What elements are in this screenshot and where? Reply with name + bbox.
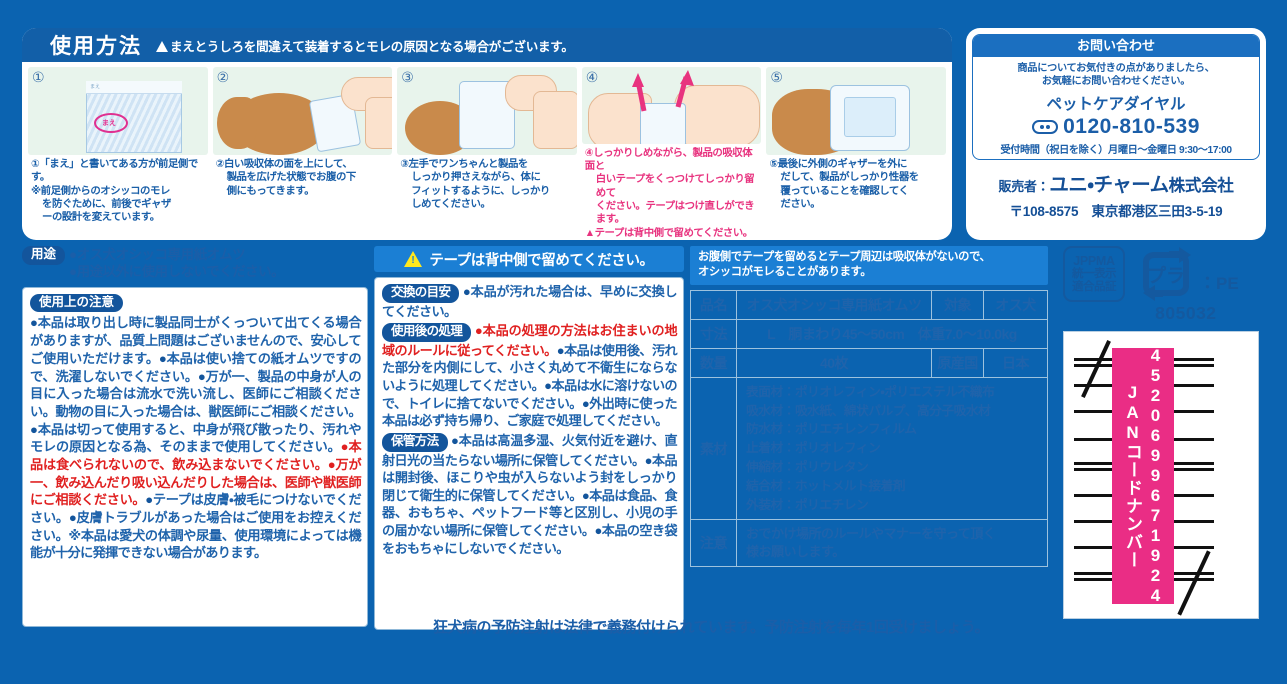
- spec-label-name: 品名: [691, 290, 737, 319]
- table-row: 数量 40枚 原産国 日本: [691, 348, 1048, 377]
- usage-step-5: ⑤ ⑤最後に外側のギャザーを外に だして、製品がしっかり性器を 覆っていることを…: [766, 67, 946, 240]
- material-line: 防水材：ポリエチレンフィルム: [746, 420, 1041, 439]
- usage-instructions-card: 使用方法 まえとうしろを間違えて装着するとモレの原因となる場合がございます。 ①…: [22, 28, 952, 240]
- address-row: 〒108-8575 東京都港区三田3-5-19: [977, 157, 1255, 161]
- caution-label: 使用上の注意: [30, 294, 123, 313]
- marks-column: JPPMA 統一表示 適合品証 プラ ：PE 805032: [1055, 246, 1267, 638]
- change-guide-label: 交換の目安: [382, 284, 459, 303]
- contact-body: 商品についてお気付きの点がありましたら、 お気軽にお問い合わせください。 ペット…: [973, 57, 1259, 160]
- table-row: 品名 オス犬オシッコ専用紙オムツ 対象 オス犬: [691, 290, 1048, 319]
- certification-marks: JPPMA 統一表示 適合品証 プラ ：PE 805032: [1055, 246, 1267, 324]
- mail-icon: [1021, 160, 1035, 161]
- freedial-icon: [1032, 120, 1058, 134]
- step-5-text: ⑤最後に外側のギャザーを外に だして、製品がしっかり性器を 覆っていることを確認…: [766, 155, 946, 211]
- usage-step-4: ④ ④しっかりしめながら、製品の吸収体面と 白いテープをくっつけてしっかり留めて…: [582, 67, 762, 240]
- disposal-label: 使用後の処理: [382, 323, 471, 342]
- material-line: 結合材：ホットメルト接着剤: [746, 477, 1041, 496]
- spec-column: お腹側でテープを留めるとテープ周辺は吸収体がないので、 オシッコがモレることがあ…: [690, 246, 1048, 567]
- contact-note-line2: お気軽にお問い合わせください。: [977, 75, 1255, 88]
- recycle-arrows-icon: プラ: [1133, 246, 1199, 302]
- direction-arrows-icon: [582, 67, 762, 144]
- plastic-type-label: ：PE: [1199, 269, 1239, 294]
- step-2-illustration: ②: [213, 67, 393, 155]
- step-2-text: ②白い吸収体の面を上にして、 製品を広げた状態でお腹の下 側にもってきます。: [213, 155, 393, 198]
- spec-value-note: おでかけ場所のルールやマナーを守って頂く 様お願いします。: [737, 520, 1048, 567]
- purpose-text: ●オス犬オシッコ専用紙オムツ ●用途以外に使用しないでください。: [69, 246, 284, 281]
- plastic-symbol-text: プラ: [1147, 264, 1185, 287]
- step-2-number: ②: [217, 69, 230, 86]
- phone-number[interactable]: 0120-810-539: [1063, 115, 1200, 139]
- contact-box: お問い合わせ 商品についてお気付きの点がありましたら、 お気軽にお問い合わせくだ…: [972, 34, 1260, 160]
- diaper-absorbent-area: [844, 97, 896, 137]
- spec-value-name: オス犬オシッコ専用紙オムツ: [737, 290, 932, 319]
- product-spec-table: 品名 オス犬オシッコ専用紙オムツ 対象 オス犬 寸法 L 胴まわり45～50cm…: [690, 290, 1048, 568]
- diaper-print-label: まえ: [90, 83, 100, 90]
- step-1-text: ①「まえ」と書いてある方が前足側です。 ※前足側からのオシッコのモレ を防ぐため…: [28, 155, 208, 225]
- warning-triangle-icon: [404, 251, 422, 267]
- material-line: 止着材：ポリオレフィン: [746, 439, 1041, 458]
- tape-warning-banner: テープは背中側で留めてください。: [374, 246, 684, 272]
- spec-value-qty: 40枚: [737, 348, 932, 377]
- spec-label-qty: 数量: [691, 348, 737, 377]
- left-info-column: 用途 ●オス犬オシッコ専用紙オムツ ●用途以外に使用しないでください。 使用上の…: [22, 246, 368, 638]
- disposal-section: 使用後の処理 ●本品の処理の方法はお住まいの地域のルールに従ってください。●本品…: [382, 322, 677, 430]
- jppma-mark: JPPMA 統一表示 適合品証: [1063, 246, 1125, 302]
- material-line: 外装材：ポリエチレン: [746, 496, 1041, 515]
- step-4-illustration: ④: [582, 67, 762, 144]
- forearm-shape: [365, 97, 393, 149]
- middle-info-column: テープは背中側で留めてください。 交換の目安 ●本品が汚れた場合は、早めに交換し…: [374, 246, 684, 638]
- jan-label-text: JANコードナンバー: [1120, 383, 1143, 569]
- step-4-text: ④しっかりしめながら、製品の吸収体面と 白いテープをくっつけてしっかり留めて く…: [582, 144, 762, 240]
- step-5-number: ⑤: [770, 69, 783, 86]
- plastic-code: 805032: [1155, 303, 1216, 324]
- usage-step-3: ③ ③左手でワンちゃんと製品を しっかり押さえながら、体に フィットするように、…: [397, 67, 577, 240]
- package-back-panel: 使用方法 まえとうしろを間違えて装着するとモレの原因となる場合がございます。 ①…: [0, 0, 1287, 684]
- step-1-illustration: ① まえ まえ: [28, 67, 208, 155]
- barcode-area: JANコードナンバー 4520699671924: [1063, 331, 1259, 619]
- contact-note-line1: 商品についてお気付きの点がありましたら、: [977, 62, 1255, 75]
- step-4-number: ④: [586, 69, 599, 86]
- step-3-illustration: ③: [397, 67, 577, 155]
- mid-info-box: 交換の目安 ●本品が汚れた場合は、早めに交換してください。 使用後の処理 ●本品…: [374, 277, 684, 630]
- purpose-row: 用途 ●オス犬オシッコ専用紙オムツ ●用途以外に使用しないでください。: [22, 246, 368, 281]
- storage-section: 保管方法 ●本品は高温多湿、火気付近を避け、直射日光の当たらない場所に保管してく…: [382, 432, 677, 557]
- seller-name-line: 販売者：ユニ・チャーム株式会社: [966, 168, 1266, 197]
- leak-note-line1: お腹側でテープを留めるとテープ周辺は吸収体がないので、: [698, 250, 1041, 265]
- spec-label-note: 注意: [691, 520, 737, 567]
- spec-label-origin: 原産国: [932, 348, 984, 377]
- spec-value-material: 表面材：ポリオレフィン・ポリエステル不織布吸水材：吸水紙、綿状パルプ、高分子吸水…: [737, 377, 1048, 520]
- jan-number-text: 4520699671924: [1143, 346, 1166, 606]
- spec-value-size: L 胴まわり45～50cm 体重7.0～10.0kg: [737, 319, 1048, 348]
- barcode-slash-bottom: [1177, 550, 1210, 615]
- seller-info: 販売者：ユニ・チャーム株式会社 〒108-8575 東京都港区三田3-5-19: [966, 168, 1266, 220]
- table-row: 寸法 L 胴まわり45～50cm 体重7.0～10.0kg: [691, 319, 1048, 348]
- table-row: 素材 表面材：ポリオレフィン・ポリエステル不織布吸水材：吸水紙、綿状パルプ、高分…: [691, 377, 1048, 520]
- contact-address: 〒108-8575 東京都港区三田3-5-19: [1039, 157, 1212, 161]
- contact-header: お問い合わせ: [973, 35, 1259, 57]
- tape-banner-text: テープは背中側で留めてください。: [429, 249, 653, 270]
- step-1-number: ①: [32, 69, 45, 86]
- spec-label-target: 対象: [932, 290, 984, 319]
- spec-value-target: オス犬: [984, 290, 1048, 319]
- pet-care-dial-name: ペットケアダイヤル: [977, 92, 1255, 114]
- plastic-symbol-row: プラ ：PE: [1133, 246, 1239, 302]
- jppma-line3: 適合品証: [1072, 281, 1116, 294]
- caution-box: 使用上の注意 ●本品は取り出し時に製品同士がくっついて出てくる場合がありますが、…: [22, 287, 368, 627]
- step-3-text: ③左手でワンちゃんと製品を しっかり押さえながら、体に フィットするように、しっ…: [397, 155, 577, 211]
- jppma-line2: 統一表示: [1072, 268, 1116, 281]
- jppma-line1: JPPMA: [1073, 254, 1115, 268]
- storage-label: 保管方法: [382, 433, 448, 452]
- contact-hours: 受付時間（祝日を除く）月曜日～金曜日 9:30～17:00: [977, 141, 1255, 156]
- barcode-slash-top: [1081, 340, 1111, 398]
- purpose-label: 用途: [22, 246, 65, 265]
- leak-warning-note: お腹側でテープを留めるとテープ周辺は吸収体がないので、 オシッコがモレることがあ…: [690, 246, 1048, 285]
- rabies-vaccination-note: 狂犬病の予防注射は法律で義務付けられています。予防注射を毎年1回受けましょう。: [374, 616, 1048, 637]
- phone-row: 0120-810-539: [977, 115, 1255, 139]
- jan-code-label: JANコードナンバー 4520699671924: [1112, 348, 1174, 604]
- spec-label-material: 素材: [691, 377, 737, 520]
- usage-warning-text: まえとうしろを間違えて装着するとモレの原因となる場合がございます。: [156, 36, 574, 55]
- diaper-top-edge: [86, 81, 182, 94]
- usage-step-1: ① まえ まえ ①「まえ」と書いてある方が前足側です。 ※前足側からのオシッコの…: [28, 67, 208, 240]
- usage-step-2: ② ②白い吸収体の面を上にして、 製品を広げた状態でお腹の下 側にもってきます。: [213, 67, 393, 240]
- material-line: 吸水材：吸水紙、綿状パルプ、高分子吸水材: [746, 402, 1041, 421]
- plastic-recycle-mark: プラ ：PE 805032: [1133, 246, 1239, 324]
- seller-address: 〒108-8575 東京都港区三田3-5-19: [966, 200, 1266, 220]
- mae-text: まえ: [102, 118, 116, 128]
- step-5-illustration: ⑤: [766, 67, 946, 155]
- contact-card: お問い合わせ 商品についてお気付きの点がありましたら、 お気軽にお問い合わせくだ…: [966, 28, 1266, 240]
- usage-title: 使用方法: [50, 30, 142, 60]
- usage-steps: ① まえ まえ ①「まえ」と書いてある方が前足側です。 ※前足側からのオシッコの…: [22, 62, 952, 240]
- usage-header: 使用方法 まえとうしろを間違えて装着するとモレの原因となる場合がございます。: [22, 28, 952, 62]
- leak-note-line2: オシッコがモレることがあります。: [698, 265, 1041, 280]
- material-line: 表面材：ポリオレフィン・ポリエステル不織布: [746, 383, 1041, 402]
- caution-body: ●本品は取り出し時に製品同士がくっついて出てくる場合がありますが、品質上問題はご…: [30, 314, 361, 562]
- forearm-shape: [533, 91, 577, 149]
- storage-body: ●本品は高温多湿、火気付近を避け、直射日光の当たらない場所に保管してください。●…: [382, 433, 677, 556]
- warning-triangle-icon: [156, 41, 168, 52]
- change-guide-section: 交換の目安 ●本品が汚れた場合は、早めに交換してください。: [382, 283, 677, 320]
- material-line: 伸縮材：ポリウレタン: [746, 458, 1041, 477]
- spec-value-origin: 日本: [984, 348, 1048, 377]
- step-3-number: ③: [401, 69, 414, 86]
- table-row: 注意 おでかけ場所のルールやマナーを守って頂く 様お願いします。: [691, 520, 1048, 567]
- spec-label-size: 寸法: [691, 319, 737, 348]
- dog-head-shape: [217, 97, 257, 149]
